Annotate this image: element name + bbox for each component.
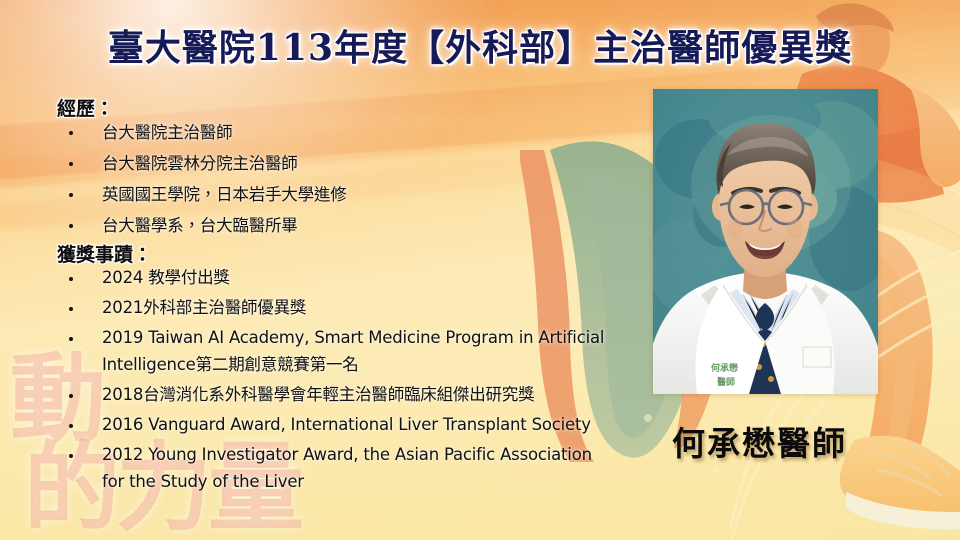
awards-heading: 獲獎事蹟：: [57, 240, 152, 267]
list-item: 台大醫院雲林分院主治醫師: [60, 149, 660, 178]
svg-text:醫師: 醫師: [717, 376, 735, 388]
portrait-image: 何承懋 醫師: [653, 89, 878, 394]
awards-list: 2024 教學付出獎 2021外科部主治醫師優異獎 2019 Taiwan AI…: [60, 264, 680, 498]
list-item: 台大醫院主治醫師: [60, 118, 660, 147]
doctor-name: 何承懋醫師: [672, 417, 847, 465]
svg-text:何承懋: 何承懋: [711, 362, 738, 374]
list-item: 2019 Taiwan AI Academy, Smart Medicine P…: [60, 324, 680, 352]
list-item: 2021外科部主治醫師優異獎: [60, 294, 680, 322]
list-item: 2016 Vanguard Award, International Liver…: [60, 411, 680, 439]
list-item: 2018台灣消化系外科醫學會年輕主治醫師臨床組傑出研究獎: [60, 381, 680, 409]
list-item: 台大醫學系，台大臨醫所畢: [60, 211, 660, 240]
list-item-continuation: for the Study of the Liver: [60, 468, 680, 496]
list-item: 2024 教學付出獎: [60, 264, 680, 292]
list-item-continuation: Intelligence第二期創意競賽第一名: [60, 351, 680, 379]
award-slide: 動 的力量 臺大醫院113年度【外科部】主治醫師優異獎 經歷： 台大醫院主治醫師…: [0, 0, 960, 540]
experience-heading: 經歷：: [57, 94, 114, 121]
doctor-portrait: 何承懋 醫師: [653, 89, 878, 394]
list-item: 英國國王學院，日本岩手大學進修: [60, 180, 660, 209]
experience-list: 台大醫院主治醫師 台大醫院雲林分院主治醫師 英國國王學院，日本岩手大學進修 台大…: [60, 118, 660, 242]
list-item: 2012 Young Investigator Award, the Asian…: [60, 441, 680, 469]
